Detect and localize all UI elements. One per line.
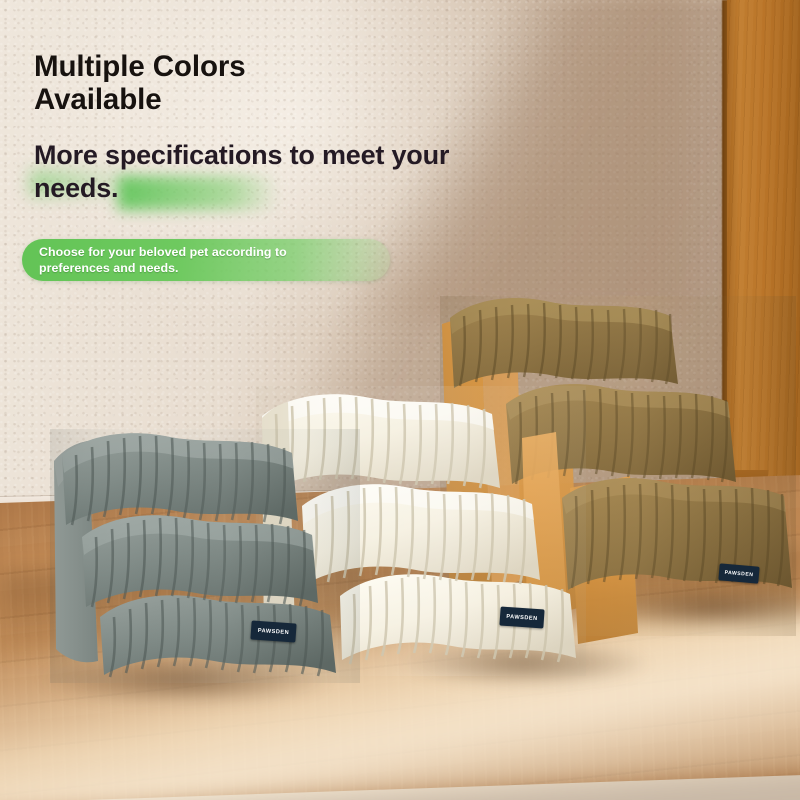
pet-stairs-gray[interactable]: PAWSDEN: [40, 425, 370, 695]
product-banner-scene: PAWSDEN: [0, 0, 800, 800]
subheadline: More specifications to meet your needs.: [34, 139, 634, 205]
tagline-line-2: preferences and needs.: [39, 260, 287, 276]
tagline-pill-text: Choose for your beloved pet according to…: [22, 244, 287, 277]
brand-label-text: PAWSDEN: [724, 569, 753, 577]
pet-stairs-gray-svg: [40, 425, 370, 695]
subheadline-line-2: needs.: [34, 172, 634, 205]
tagline-pill: Choose for your beloved pet according to…: [22, 239, 390, 281]
headline-line-2: Available: [34, 83, 634, 116]
brand-label-gray: PAWSDEN: [250, 620, 296, 642]
subheadline-line-1: More specifications to meet your: [34, 139, 634, 172]
page-title: Multiple Colors Available: [34, 50, 634, 117]
brand-label-text: PAWSDEN: [258, 627, 290, 635]
brand-label-cream: PAWSDEN: [499, 606, 544, 628]
brand-label-text: PAWSDEN: [506, 613, 538, 621]
brand-label-brown: PAWSDEN: [718, 563, 759, 583]
tagline-line-1: Choose for your beloved pet according to: [39, 244, 287, 260]
headline-line-1: Multiple Colors: [34, 50, 634, 83]
